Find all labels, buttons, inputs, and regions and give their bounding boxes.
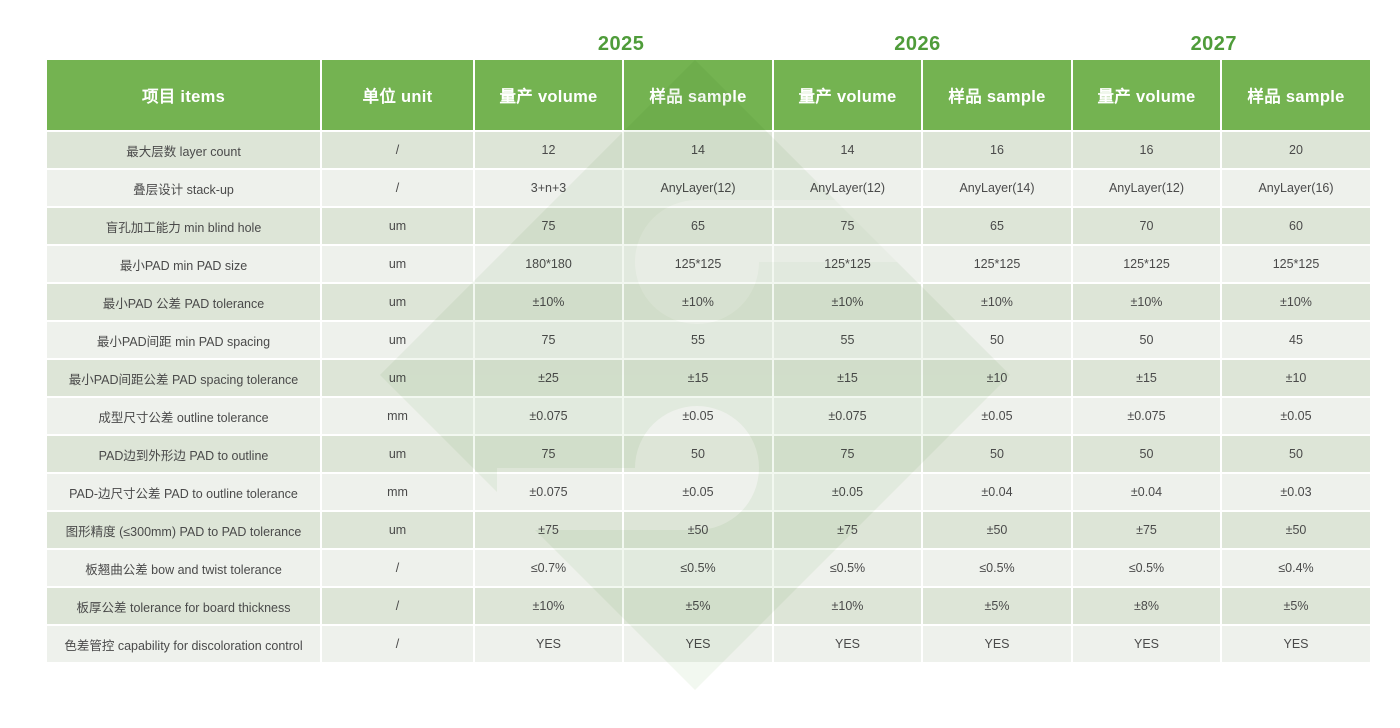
cell-2025-sample: 55 bbox=[624, 322, 772, 358]
cell-2025-volume: ±10% bbox=[475, 284, 622, 320]
table-row: 板厚公差 tolerance for board thickness/±10%±… bbox=[47, 588, 1370, 624]
cell-2025-sample: ±5% bbox=[624, 588, 772, 624]
cell-2027-volume: ±15 bbox=[1073, 360, 1220, 396]
cell-2025-volume: 75 bbox=[475, 208, 622, 244]
column-header-2026-volume: 量产 volume bbox=[774, 60, 921, 130]
cell-unit: um bbox=[322, 246, 473, 282]
cell-2026-sample: ±50 bbox=[923, 512, 1071, 548]
cell-2026-sample: 65 bbox=[923, 208, 1071, 244]
cell-2025-sample: ±50 bbox=[624, 512, 772, 548]
cell-item: 最小PAD 公差 PAD tolerance bbox=[47, 284, 320, 320]
cell-2025-sample: 50 bbox=[624, 436, 772, 472]
cell-unit: / bbox=[322, 170, 473, 206]
cell-item: 最大层数 layer count bbox=[47, 132, 320, 168]
cell-2026-sample: 50 bbox=[923, 322, 1071, 358]
cell-2026-volume: ±75 bbox=[774, 512, 921, 548]
cell-2025-sample: ±10% bbox=[624, 284, 772, 320]
cell-2026-sample: 16 bbox=[923, 132, 1071, 168]
table-row: PAD边到外形边 PAD to outlineum755075505050 bbox=[47, 436, 1370, 472]
column-header-2025-sample: 样品 sample bbox=[624, 60, 772, 130]
table-row: 最小PAD间距 min PAD spacingum755555505045 bbox=[47, 322, 1370, 358]
cell-2025-sample: 125*125 bbox=[624, 246, 772, 282]
table-row: 叠层设计 stack-up/3+n+3AnyLayer(12)AnyLayer(… bbox=[47, 170, 1370, 206]
table-body: 最大层数 layer count/121414161620叠层设计 stack-… bbox=[47, 132, 1370, 662]
cell-2026-volume: AnyLayer(12) bbox=[774, 170, 921, 206]
cell-item: 叠层设计 stack-up bbox=[47, 170, 320, 206]
cell-2027-volume: ±10% bbox=[1073, 284, 1220, 320]
cell-unit: um bbox=[322, 436, 473, 472]
table-row: 色差管控 capability for discoloration contro… bbox=[47, 626, 1370, 662]
year-label-2027: 2027 bbox=[1066, 30, 1362, 58]
cell-2027-sample: 45 bbox=[1222, 322, 1370, 358]
cell-2027-volume: 50 bbox=[1073, 322, 1220, 358]
cell-2026-volume: ±10% bbox=[774, 588, 921, 624]
cell-2026-volume: ±15 bbox=[774, 360, 921, 396]
cell-2026-sample: YES bbox=[923, 626, 1071, 662]
cell-item: 图形精度 (≤300mm) PAD to PAD tolerance bbox=[47, 512, 320, 548]
cell-2026-volume: 75 bbox=[774, 436, 921, 472]
table-row: 板翘曲公差 bow and twist tolerance/≤0.7%≤0.5%… bbox=[47, 550, 1370, 586]
cell-2025-volume: ≤0.7% bbox=[475, 550, 622, 586]
cell-item: 最小PAD min PAD size bbox=[47, 246, 320, 282]
cell-item: 板翘曲公差 bow and twist tolerance bbox=[47, 550, 320, 586]
cell-2027-sample: YES bbox=[1222, 626, 1370, 662]
cell-2025-sample: 14 bbox=[624, 132, 772, 168]
column-header-unit: 单位 unit bbox=[322, 60, 473, 130]
table-header-row: 项目 items 单位 unit 量产 volume 样品 sample 量产 … bbox=[47, 60, 1370, 130]
cell-2026-sample: ±10 bbox=[923, 360, 1071, 396]
cell-2027-volume: YES bbox=[1073, 626, 1220, 662]
cell-2026-volume: ≤0.5% bbox=[774, 550, 921, 586]
cell-2025-volume: 12 bbox=[475, 132, 622, 168]
cell-2027-sample: ±10 bbox=[1222, 360, 1370, 396]
cell-2025-sample: ±0.05 bbox=[624, 474, 772, 510]
cell-2026-sample: ±0.04 bbox=[923, 474, 1071, 510]
cell-2027-sample: ±10% bbox=[1222, 284, 1370, 320]
cell-2026-sample: 50 bbox=[923, 436, 1071, 472]
cell-2027-volume: ±0.075 bbox=[1073, 398, 1220, 434]
cell-2025-volume: ±0.075 bbox=[475, 474, 622, 510]
cell-unit: / bbox=[322, 132, 473, 168]
cell-2026-sample: ±0.05 bbox=[923, 398, 1071, 434]
cell-item: 板厚公差 tolerance for board thickness bbox=[47, 588, 320, 624]
cell-2026-volume: 14 bbox=[774, 132, 921, 168]
cell-2025-volume: YES bbox=[475, 626, 622, 662]
cell-2027-sample: ±0.05 bbox=[1222, 398, 1370, 434]
cell-unit: um bbox=[322, 284, 473, 320]
cell-2026-volume: ±0.05 bbox=[774, 474, 921, 510]
cell-2026-volume: YES bbox=[774, 626, 921, 662]
cell-unit: / bbox=[322, 588, 473, 624]
cell-2025-sample: ±15 bbox=[624, 360, 772, 396]
column-header-2027-sample: 样品 sample bbox=[1222, 60, 1370, 130]
cell-2027-sample: ≤0.4% bbox=[1222, 550, 1370, 586]
cell-unit: / bbox=[322, 550, 473, 586]
cell-item: 色差管控 capability for discoloration contro… bbox=[47, 626, 320, 662]
cell-2026-sample: ≤0.5% bbox=[923, 550, 1071, 586]
cell-2025-volume: 180*180 bbox=[475, 246, 622, 282]
table-row: 盲孔加工能力 min blind holeum756575657060 bbox=[47, 208, 1370, 244]
cell-2025-volume: ±25 bbox=[475, 360, 622, 396]
cell-2025-volume: 75 bbox=[475, 436, 622, 472]
cell-unit: / bbox=[322, 626, 473, 662]
year-group-header: 2025 2026 2027 bbox=[473, 30, 1362, 58]
cell-2027-sample: ±0.03 bbox=[1222, 474, 1370, 510]
table-row: 最小PAD间距公差 PAD spacing toleranceum±25±15±… bbox=[47, 360, 1370, 396]
cell-2027-volume: 125*125 bbox=[1073, 246, 1220, 282]
cell-2025-volume: 3+n+3 bbox=[475, 170, 622, 206]
cell-2027-sample: 50 bbox=[1222, 436, 1370, 472]
cell-2025-volume: ±75 bbox=[475, 512, 622, 548]
cell-2027-volume: 50 bbox=[1073, 436, 1220, 472]
cell-2027-volume: ≤0.5% bbox=[1073, 550, 1220, 586]
cell-2027-sample: 60 bbox=[1222, 208, 1370, 244]
cell-2025-volume: 75 bbox=[475, 322, 622, 358]
cell-2026-sample: AnyLayer(14) bbox=[923, 170, 1071, 206]
cell-item: 最小PAD间距 min PAD spacing bbox=[47, 322, 320, 358]
cell-item: PAD边到外形边 PAD to outline bbox=[47, 436, 320, 472]
column-header-2027-volume: 量产 volume bbox=[1073, 60, 1220, 130]
table-row: 图形精度 (≤300mm) PAD to PAD toleranceum±75±… bbox=[47, 512, 1370, 548]
cell-2026-sample: 125*125 bbox=[923, 246, 1071, 282]
table-row: 成型尺寸公差 outline tolerancemm±0.075±0.05±0.… bbox=[47, 398, 1370, 434]
cell-2027-volume: ±8% bbox=[1073, 588, 1220, 624]
cell-2025-sample: AnyLayer(12) bbox=[624, 170, 772, 206]
cell-2026-volume: ±10% bbox=[774, 284, 921, 320]
cell-2027-sample: 20 bbox=[1222, 132, 1370, 168]
cell-2026-volume: 125*125 bbox=[774, 246, 921, 282]
cell-2027-sample: ±50 bbox=[1222, 512, 1370, 548]
year-label-2025: 2025 bbox=[473, 30, 769, 58]
cell-2026-volume: 55 bbox=[774, 322, 921, 358]
table-row: 最小PAD min PAD sizeum180*180125*125125*12… bbox=[47, 246, 1370, 282]
cell-2025-volume: ±10% bbox=[475, 588, 622, 624]
cell-2027-sample: 125*125 bbox=[1222, 246, 1370, 282]
column-header-item: 项目 items bbox=[47, 60, 320, 130]
cell-unit: um bbox=[322, 360, 473, 396]
cell-unit: mm bbox=[322, 474, 473, 510]
cell-2025-sample: ±0.05 bbox=[624, 398, 772, 434]
cell-unit: um bbox=[322, 322, 473, 358]
year-label-2026: 2026 bbox=[769, 30, 1065, 58]
cell-item: PAD-边尺寸公差 PAD to outline tolerance bbox=[47, 474, 320, 510]
cell-unit: um bbox=[322, 512, 473, 548]
cell-2025-sample: ≤0.5% bbox=[624, 550, 772, 586]
page-root: 2025 2026 2027 项目 items 单位 unit 量产 volum… bbox=[0, 0, 1400, 728]
cell-2026-volume: ±0.075 bbox=[774, 398, 921, 434]
cell-2027-volume: ±75 bbox=[1073, 512, 1220, 548]
column-header-2026-sample: 样品 sample bbox=[923, 60, 1071, 130]
column-header-2025-volume: 量产 volume bbox=[475, 60, 622, 130]
cell-2026-sample: ±5% bbox=[923, 588, 1071, 624]
cell-2025-sample: YES bbox=[624, 626, 772, 662]
cell-item: 最小PAD间距公差 PAD spacing tolerance bbox=[47, 360, 320, 396]
table-row: PAD-边尺寸公差 PAD to outline tolerancemm±0.0… bbox=[47, 474, 1370, 510]
cell-2027-sample: ±5% bbox=[1222, 588, 1370, 624]
cell-2027-volume: 70 bbox=[1073, 208, 1220, 244]
cell-2027-volume: 16 bbox=[1073, 132, 1220, 168]
table-header: 项目 items 单位 unit 量产 volume 样品 sample 量产 … bbox=[47, 60, 1370, 130]
cell-2027-volume: AnyLayer(12) bbox=[1073, 170, 1220, 206]
cell-item: 成型尺寸公差 outline tolerance bbox=[47, 398, 320, 434]
table-row: 最小PAD 公差 PAD toleranceum±10%±10%±10%±10%… bbox=[47, 284, 1370, 320]
cell-unit: um bbox=[322, 208, 473, 244]
cell-2025-sample: 65 bbox=[624, 208, 772, 244]
table-row: 最大层数 layer count/121414161620 bbox=[47, 132, 1370, 168]
cell-unit: mm bbox=[322, 398, 473, 434]
cell-item: 盲孔加工能力 min blind hole bbox=[47, 208, 320, 244]
cell-2026-sample: ±10% bbox=[923, 284, 1071, 320]
cell-2027-sample: AnyLayer(16) bbox=[1222, 170, 1370, 206]
cell-2026-volume: 75 bbox=[774, 208, 921, 244]
cell-2025-volume: ±0.075 bbox=[475, 398, 622, 434]
cell-2027-volume: ±0.04 bbox=[1073, 474, 1220, 510]
capability-roadmap-table: 项目 items 单位 unit 量产 volume 样品 sample 量产 … bbox=[45, 58, 1372, 664]
